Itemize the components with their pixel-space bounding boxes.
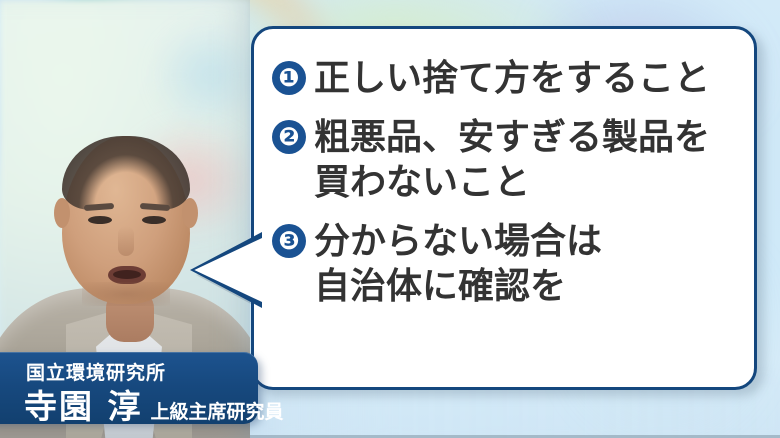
list-item: ❶ 正しい捨て方をすること (272, 56, 742, 101)
list-item-line: 買わないこと (314, 160, 742, 205)
list-item-line: 粗悪品、安すぎる製品を (314, 115, 742, 160)
list-item-line: 正しい捨て方をすること (314, 56, 742, 101)
list-item-text-2: 粗悪品、安すぎる製品を 買わないこと (314, 115, 742, 205)
broadcast-screen: ❶ 正しい捨て方をすること ❷ 粗悪品、安すぎる製品を 買わないこと ❸ 分から… (0, 0, 780, 438)
list-number-badge-1: ❶ (272, 61, 306, 95)
list-item: ❷ 粗悪品、安すぎる製品を 買わないこと (272, 115, 742, 205)
list-item-text-1: 正しい捨て方をすること (314, 56, 742, 101)
list-item: ❸ 分からない場合は 自治体に確認を (272, 219, 742, 309)
list-item-line: 自治体に確認を (314, 264, 742, 309)
list-number-badge-2: ❷ (272, 120, 306, 154)
nameplate-title: 上級主席研究員 (151, 397, 284, 424)
nameplate-name-row: 寺園 淳 上級主席研究員 (24, 380, 284, 428)
nameplate-name: 寺園 淳 (24, 380, 143, 428)
advice-list: ❶ 正しい捨て方をすること ❷ 粗悪品、安すぎる製品を 買わないこと ❸ 分から… (272, 56, 742, 309)
list-item-text-3: 分からない場合は 自治体に確認を (314, 219, 742, 309)
list-item-line: 分からない場合は (314, 219, 742, 264)
list-number-badge-3: ❸ (272, 224, 306, 258)
